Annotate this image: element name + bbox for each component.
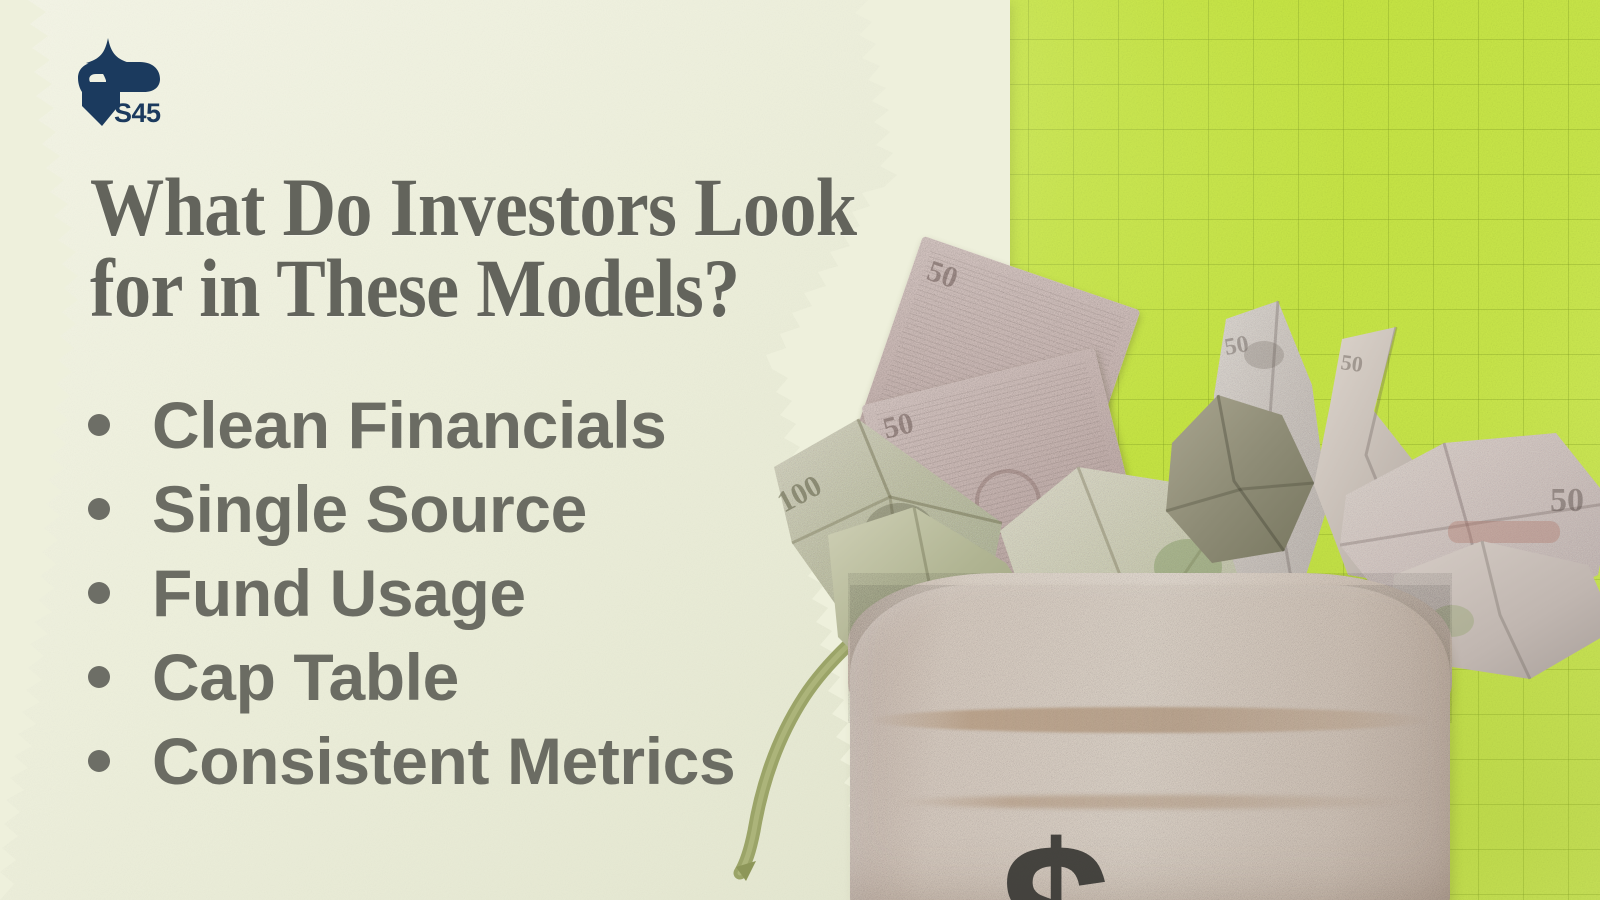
list-item: Clean Financials bbox=[88, 383, 1028, 467]
list-item-label: Consistent Metrics bbox=[152, 728, 735, 794]
list-item: Cap Table bbox=[88, 635, 1028, 719]
page-title-line-2: for in These Models? bbox=[90, 248, 967, 329]
list-item: Single Source bbox=[88, 467, 1028, 551]
svg-text:50: 50 bbox=[1550, 482, 1584, 519]
bullet-dot-icon bbox=[88, 414, 110, 436]
bullet-dot-icon bbox=[88, 666, 110, 688]
investor-criteria-list: Clean Financials Single Source Fund Usag… bbox=[88, 383, 1028, 803]
list-item-label: Single Source bbox=[152, 476, 587, 542]
list-item-label: Fund Usage bbox=[152, 560, 526, 626]
list-item-label: Cap Table bbox=[152, 644, 459, 710]
svg-text:50: 50 bbox=[1223, 331, 1251, 361]
list-item: Consistent Metrics bbox=[88, 719, 1028, 803]
bullet-dot-icon bbox=[88, 750, 110, 772]
text-content-area: S45 What Do Investors Look for in These … bbox=[0, 0, 1010, 900]
logo-wordmark: S45 bbox=[114, 98, 161, 129]
slide-canvas: 50 50 50 50 bbox=[0, 0, 1600, 900]
bullet-dot-icon bbox=[88, 498, 110, 520]
page-title: What Do Investors Look for in These Mode… bbox=[90, 167, 967, 328]
bullet-dot-icon bbox=[88, 582, 110, 604]
list-item: Fund Usage bbox=[88, 551, 1028, 635]
svg-text:50: 50 bbox=[1339, 349, 1364, 377]
brand-logo[interactable]: S45 bbox=[62, 34, 192, 132]
page-title-line-1: What Do Investors Look bbox=[90, 167, 967, 248]
list-item-label: Clean Financials bbox=[152, 392, 666, 458]
dollar-sign-icon: $ bbox=[1000, 815, 1111, 900]
